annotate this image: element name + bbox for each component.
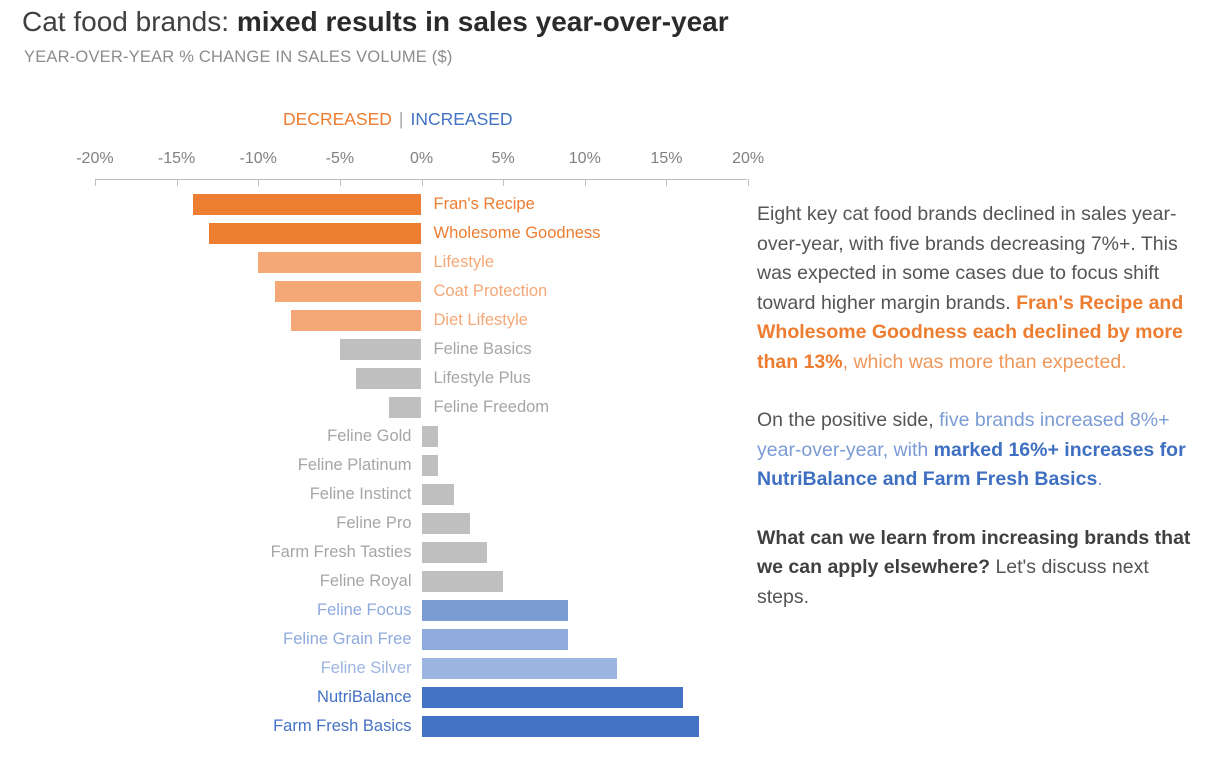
commentary-paragraph-3: What can we learn from increasing brands… xyxy=(757,524,1201,613)
bar-label: Feline Focus xyxy=(317,597,411,624)
bar[interactable] xyxy=(422,513,471,534)
commentary-highlight-orange: , which was more than expected. xyxy=(843,351,1127,373)
bar[interactable] xyxy=(422,426,438,447)
x-tick-mark xyxy=(585,179,586,186)
bar-label: Feline Basics xyxy=(434,336,532,363)
x-tick-mark xyxy=(748,179,749,186)
bar[interactable] xyxy=(422,658,618,679)
x-tick-label: 10% xyxy=(569,150,601,168)
bar[interactable] xyxy=(422,542,487,563)
bar-row[interactable]: Coat Protection xyxy=(0,277,760,306)
bar[interactable] xyxy=(193,194,422,215)
bar[interactable] xyxy=(422,455,438,476)
x-tick-label: -20% xyxy=(76,150,113,168)
page-title-bold: mixed results in sales year-over-year xyxy=(237,6,729,37)
bar-label: Fran's Recipe xyxy=(434,191,535,218)
page-subtitle: YEAR-OVER-YEAR % CHANGE IN SALES VOLUME … xyxy=(24,48,453,67)
bar-row[interactable]: Farm Fresh Tasties xyxy=(0,538,760,567)
bar-label: Feline Grain Free xyxy=(283,626,411,653)
bar-row[interactable]: Feline Basics xyxy=(0,335,760,364)
x-tick-label: -5% xyxy=(326,150,354,168)
bar-label: Lifestyle xyxy=(434,249,495,276)
bar[interactable] xyxy=(291,310,422,331)
slide-root: Cat food brands: mixed results in sales … xyxy=(0,0,1228,766)
x-tick-label: 20% xyxy=(732,150,764,168)
x-tick-label: 0% xyxy=(410,150,433,168)
x-tick-mark xyxy=(666,179,667,186)
bar-row[interactable]: Feline Platinum xyxy=(0,451,760,480)
bar-rows: Fran's RecipeWholesome GoodnessLifestyle… xyxy=(0,190,760,741)
bar-label: Feline Pro xyxy=(336,510,411,537)
bar-chart: -20%-15%-10%-5%0%5%10%15%20% Fran's Reci… xyxy=(0,150,760,750)
bar-label: Feline Gold xyxy=(327,423,411,450)
bar[interactable] xyxy=(389,397,422,418)
x-tick-label: 15% xyxy=(650,150,682,168)
commentary-text: On the positive side, xyxy=(757,409,939,431)
bar-row[interactable]: Feline Silver xyxy=(0,654,760,683)
x-tick-mark xyxy=(177,179,178,186)
bar[interactable] xyxy=(422,716,700,737)
bar[interactable] xyxy=(356,368,421,389)
bar[interactable] xyxy=(422,600,569,621)
bar-row[interactable]: Farm Fresh Basics xyxy=(0,712,760,741)
bar-label: Feline Silver xyxy=(321,655,412,682)
bar[interactable] xyxy=(340,339,422,360)
bar-label: Feline Freedom xyxy=(434,394,550,421)
bar-label: Feline Royal xyxy=(320,568,412,595)
legend-item-increased: INCREASED xyxy=(410,109,512,129)
bar[interactable] xyxy=(422,484,455,505)
bar-row[interactable]: Feline Grain Free xyxy=(0,625,760,654)
page-title: Cat food brands: mixed results in sales … xyxy=(22,6,982,38)
bar-row[interactable]: Wholesome Goodness xyxy=(0,219,760,248)
x-tick-mark xyxy=(340,179,341,186)
bar-label: Diet Lifestyle xyxy=(434,307,528,334)
bar[interactable] xyxy=(422,687,683,708)
bar-row[interactable]: Feline Pro xyxy=(0,509,760,538)
bar-row[interactable]: Feline Gold xyxy=(0,422,760,451)
x-tick-label: 5% xyxy=(492,150,515,168)
bar-label: Coat Protection xyxy=(434,278,548,305)
commentary-paragraph-2: On the positive side, five brands increa… xyxy=(757,406,1201,495)
bar-label: Feline Instinct xyxy=(310,481,412,508)
legend-separator: | xyxy=(392,109,411,129)
x-tick-label: -15% xyxy=(158,150,195,168)
legend-item-decreased: DECREASED xyxy=(283,109,392,129)
commentary-paragraph-1: Eight key cat food brands declined in sa… xyxy=(757,200,1201,377)
x-tick-mark xyxy=(95,179,96,186)
bar[interactable] xyxy=(209,223,421,244)
x-tick-mark xyxy=(503,179,504,186)
bar-label: Lifestyle Plus xyxy=(434,365,531,392)
bar-row[interactable]: Feline Freedom xyxy=(0,393,760,422)
bar-row[interactable]: Feline Royal xyxy=(0,567,760,596)
commentary-panel: Eight key cat food brands declined in sa… xyxy=(757,200,1201,612)
bar[interactable] xyxy=(258,252,421,273)
bar-label: Wholesome Goodness xyxy=(434,220,601,247)
commentary-highlight-blue: . xyxy=(1097,468,1102,490)
bar-label: Farm Fresh Basics xyxy=(273,713,411,740)
x-tick-mark xyxy=(258,179,259,186)
x-tick-label: -10% xyxy=(240,150,277,168)
bar[interactable] xyxy=(275,281,422,302)
chart-legend: DECREASED|INCREASED xyxy=(283,109,513,130)
bar-row[interactable]: Lifestyle Plus xyxy=(0,364,760,393)
bar-label: NutriBalance xyxy=(317,684,411,711)
bar-label: Feline Platinum xyxy=(298,452,412,479)
bar-row[interactable]: Lifestyle xyxy=(0,248,760,277)
bar-label: Farm Fresh Tasties xyxy=(271,539,412,566)
bar-row[interactable]: Fran's Recipe xyxy=(0,190,760,219)
bar-row[interactable]: Feline Focus xyxy=(0,596,760,625)
bar-row[interactable]: Diet Lifestyle xyxy=(0,306,760,335)
bar-row[interactable]: Feline Instinct xyxy=(0,480,760,509)
page-title-light: Cat food brands: xyxy=(22,6,237,37)
x-tick-mark xyxy=(422,179,423,186)
x-axis-line xyxy=(95,179,747,180)
bar[interactable] xyxy=(422,629,569,650)
bar-row[interactable]: NutriBalance xyxy=(0,683,760,712)
bar[interactable] xyxy=(422,571,504,592)
